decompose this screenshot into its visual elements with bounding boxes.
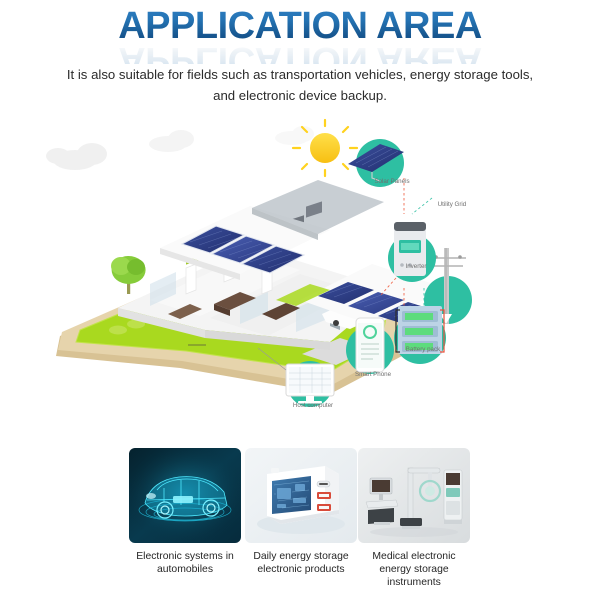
node-inverter bbox=[388, 222, 436, 282]
application-card[interactable]: Electronic systems in automobiles bbox=[129, 448, 241, 576]
tree-icon bbox=[111, 256, 146, 294]
application-card[interactable]: Medical electronic energy storage instru… bbox=[358, 448, 470, 589]
page-title: APPLICATION AREA bbox=[118, 4, 482, 48]
card-caption: Medical electronic energy storage instru… bbox=[358, 550, 470, 589]
node-battery-pack bbox=[394, 306, 446, 364]
sun-icon bbox=[293, 120, 357, 176]
diagram-label-smart-phone: Smart Phone bbox=[355, 371, 392, 378]
diagram-label-battery-pack: Battery pack bbox=[406, 346, 441, 353]
page-subtitle: It is also suitable for fields such as t… bbox=[60, 64, 540, 106]
card-caption: Electronic systems in automobiles bbox=[129, 550, 241, 576]
card-caption: Daily energy storage electronic products bbox=[245, 550, 357, 576]
diagram-label-host-computer: Host computer bbox=[293, 402, 333, 409]
application-cards: Electronic systems in automobiles bbox=[0, 448, 600, 590]
gan-charger-image bbox=[245, 448, 357, 543]
medical-equipment-image bbox=[358, 448, 470, 543]
diagram-label-solar-panels: Solar Panels bbox=[374, 178, 409, 185]
cloud-icon bbox=[149, 130, 194, 152]
system-diagram: Solar Panels Utility Grid Inverter Batte… bbox=[0, 118, 600, 430]
application-card[interactable]: Daily energy storage electronic products bbox=[245, 448, 357, 576]
cloud-icon bbox=[275, 126, 314, 145]
diagram-label-inverter: Inverter bbox=[406, 263, 427, 270]
wireframe-car-image bbox=[129, 448, 241, 543]
cloud-icon bbox=[46, 143, 107, 170]
diagram-label-utility-grid: Utility Grid bbox=[438, 201, 467, 208]
page-title-block: APPLICATION AREA bbox=[0, 4, 600, 62]
application-area-page: APPLICATION AREA APPLICATION AREA It is … bbox=[0, 0, 600, 600]
